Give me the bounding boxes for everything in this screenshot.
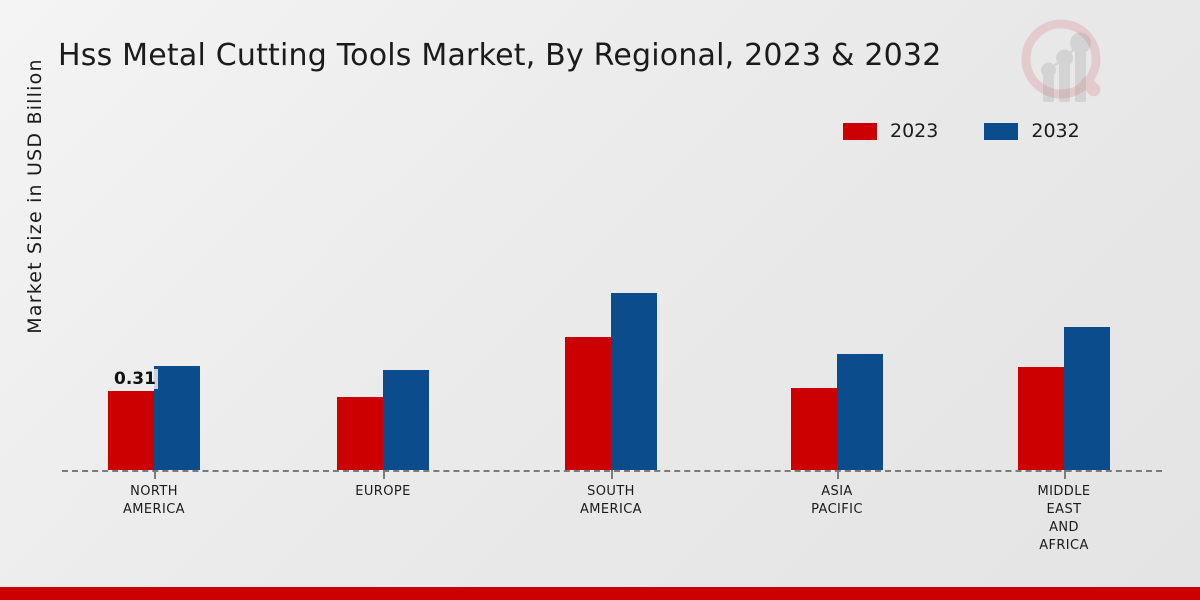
bar-2032-asia-pacific[interactable] — [837, 354, 883, 470]
x-tick-south-america — [611, 470, 613, 479]
x-label-line: SOUTH — [587, 484, 635, 499]
chart-figure: Hss Metal Cutting Tools Market, By Regio… — [0, 0, 1200, 600]
bar-pair — [791, 354, 883, 470]
x-label-line: AFRICA — [1039, 538, 1089, 553]
bar-2032-middle-east-and-africa[interactable] — [1064, 327, 1110, 470]
x-label-north-america: NORTH AMERICA — [54, 483, 254, 519]
x-label-line: AND — [1049, 520, 1079, 535]
bar-2032-north-america[interactable] — [154, 366, 200, 470]
x-label-line: EUROPE — [355, 484, 410, 499]
bar-2023-north-america[interactable] — [108, 391, 154, 470]
bar-2032-south-america[interactable] — [611, 293, 657, 470]
x-label-line: ASIA — [821, 484, 852, 499]
x-label-asia-pacific: ASIA PACIFIC — [737, 483, 937, 519]
x-label-line: MIDDLE — [1038, 484, 1091, 499]
bar-pair — [565, 293, 657, 470]
x-label-middle-east-and-africa: MIDDLE EAST AND AFRICA — [964, 483, 1164, 555]
x-tick-asia-pacific — [837, 470, 839, 479]
x-label-line: AMERICA — [123, 502, 185, 517]
bar-2023-south-america[interactable] — [565, 337, 611, 470]
x-label-line: AMERICA — [580, 502, 642, 517]
footer-accent-bar — [0, 587, 1200, 600]
x-tick-north-america — [154, 470, 156, 479]
x-label-south-america: SOUTH AMERICA — [511, 483, 711, 519]
x-label-europe: EUROPE — [283, 483, 483, 501]
bar-2023-asia-pacific[interactable] — [791, 388, 837, 470]
bar-2023-middle-east-and-africa[interactable] — [1018, 367, 1064, 470]
bar-pair — [337, 370, 429, 470]
x-label-line: PACIFIC — [811, 502, 863, 517]
x-label-line: NORTH — [130, 484, 178, 499]
bar-2023-europe[interactable] — [337, 397, 383, 470]
x-tick-europe — [383, 470, 385, 479]
x-tick-middle-east-and-africa — [1064, 470, 1066, 479]
bar-pair — [1018, 327, 1110, 470]
plot-area: 0.31 NORTH AMERICA EUROPE — [0, 0, 1200, 600]
bar-2032-europe[interactable] — [383, 370, 429, 470]
data-label-north-america-2023: 0.31 — [112, 369, 158, 389]
x-label-line: EAST — [1047, 502, 1082, 517]
